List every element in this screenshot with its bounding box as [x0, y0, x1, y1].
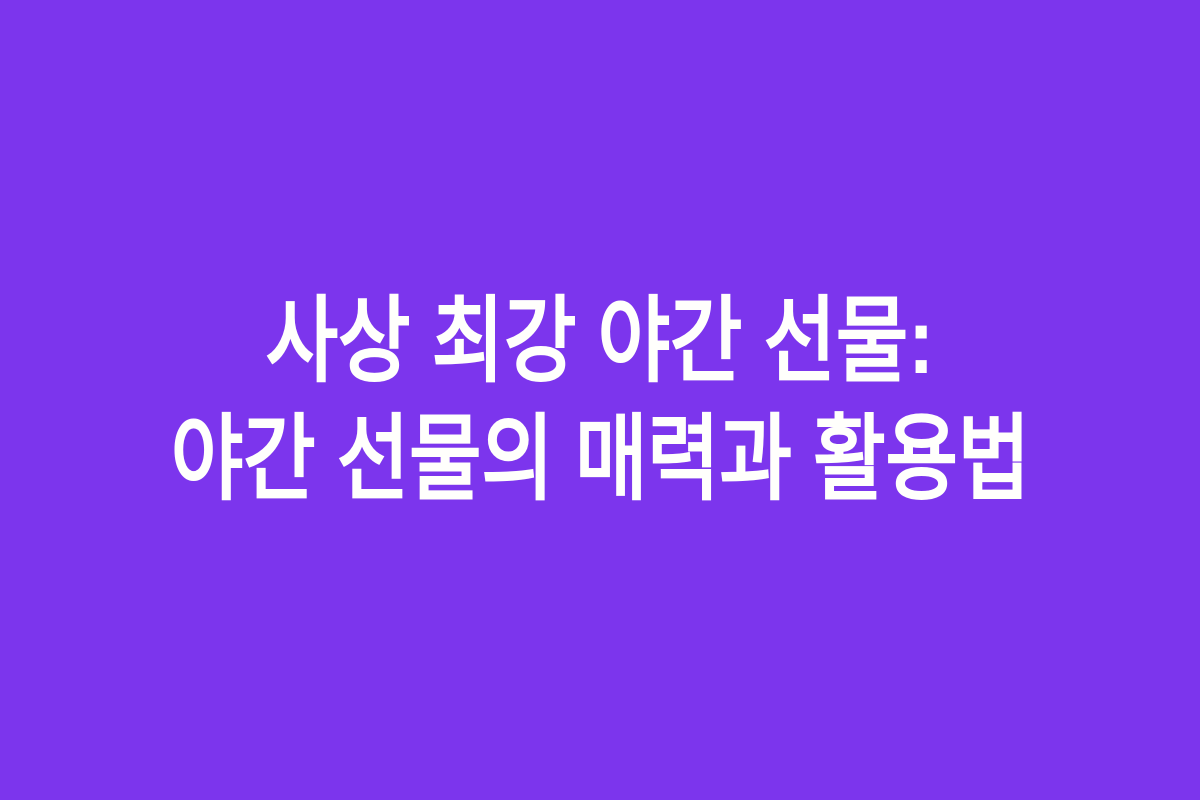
- title-banner: 사상 최강 야간 선물: 야간 선물의 매력과 활용법: [0, 0, 1200, 800]
- page-title: 사상 최강 야간 선물: 야간 선물의 매력과 활용법: [0, 282, 1200, 518]
- title-line-2: 야간 선물의 매력과 활용법: [170, 400, 1029, 518]
- title-line-1: 사상 최강 야간 선물:: [266, 282, 934, 400]
